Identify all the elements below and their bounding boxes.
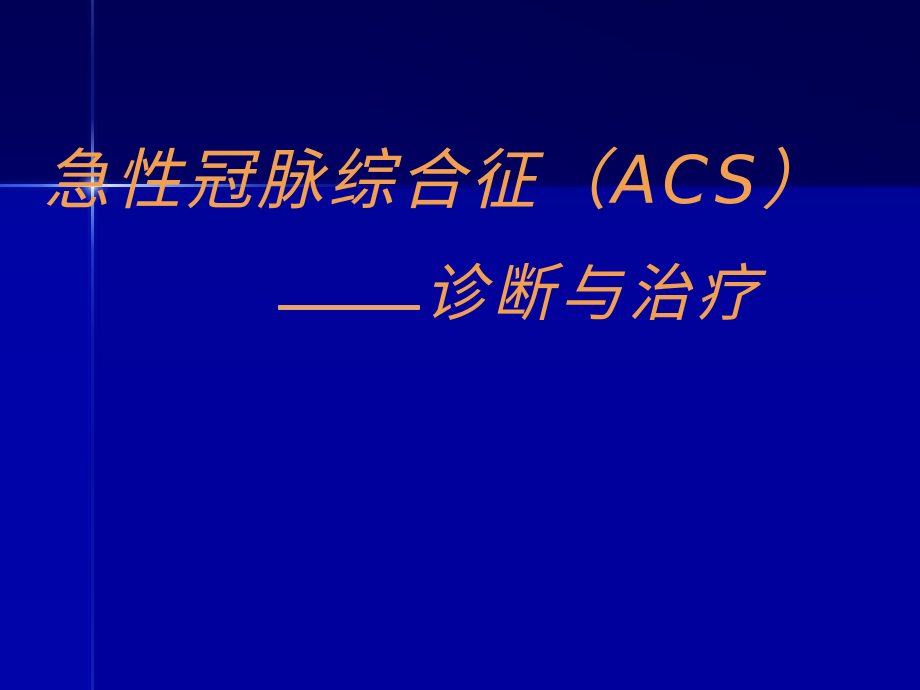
em-dash-rule <box>278 305 420 310</box>
slide-subtitle-line-2: 诊断与治疗 <box>424 263 764 325</box>
slide-title-line-1: 急性冠脉综合征（ACS） <box>44 148 832 214</box>
title-text-block: 急性冠脉综合征（ACS） 诊断与治疗 <box>0 0 920 690</box>
title-slide: 急性冠脉综合征（ACS） 诊断与治疗 <box>0 0 920 690</box>
